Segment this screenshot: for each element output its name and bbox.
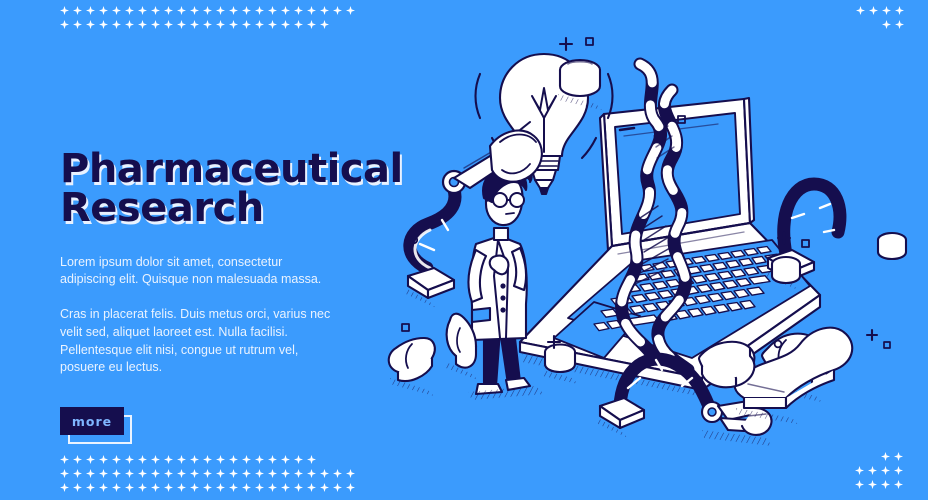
decorative-dot [881,480,890,489]
decorative-dot [281,469,290,478]
decorative-dot [320,6,329,15]
decorative-dot [190,455,199,464]
decorative-dot [268,469,277,478]
hero-banner: Pharmaceutical Research Lorem ipsum dolo… [0,0,928,500]
scientist-character [468,168,544,400]
decorative-dot [307,483,316,492]
decorative-dot [242,20,251,29]
hero-text-column: Pharmaceutical Research Lorem ipsum dolo… [60,150,390,455]
decorative-dot [164,20,173,29]
page-title: Pharmaceutical Research [60,150,390,228]
decorative-dot [86,20,95,29]
decorative-dot [112,6,121,15]
decorative-dot [138,483,147,492]
decorative-dot [99,6,108,15]
decorative-dot [255,469,264,478]
decorative-dot [60,20,69,29]
decorative-dot [216,20,225,29]
decorative-dot [190,469,199,478]
decorative-dot [73,469,82,478]
decorative-dot [99,483,108,492]
decorative-dot [216,6,225,15]
decorative-dot [125,483,134,492]
decorative-dot [164,455,173,464]
illustration-svg [372,18,928,480]
decorative-dot [895,6,904,15]
decorative-dot [294,483,303,492]
decorative-dot [229,455,238,464]
decorative-dot [164,6,173,15]
decorative-dot [177,6,186,15]
decorative-dot [73,20,82,29]
decorative-dot [138,20,147,29]
decorative-dot [229,20,238,29]
decorative-dot [320,20,329,29]
decorative-dot [255,455,264,464]
decorative-dot [190,483,199,492]
decorative-dot [86,469,95,478]
decorative-dot [346,483,355,492]
decorative-dot [281,483,290,492]
decorative-dot [73,455,82,464]
decorative-dot [333,469,342,478]
decorative-dot [73,483,82,492]
decorative-dot [281,20,290,29]
dot-pattern-bottom-left [60,455,359,497]
decorative-dot [86,6,95,15]
decorative-dot [242,455,251,464]
decorative-dot [151,483,160,492]
decorative-dot [255,6,264,15]
decorative-dot [112,483,121,492]
decorative-dot [138,455,147,464]
decorative-dot [346,6,355,15]
hero-paragraph-2: Cras in placerat felis. Duis metus orci,… [60,306,332,377]
decorative-dot [307,455,316,464]
decorative-dot [164,469,173,478]
decorative-dot [125,20,134,29]
decorative-dot [868,480,877,489]
decorative-dot [855,480,864,489]
decorative-dot [346,469,355,478]
decorative-dot [307,6,316,15]
decorative-dot [177,483,186,492]
decorative-dot [268,20,277,29]
decorative-dot [164,483,173,492]
decorative-dot [60,455,69,464]
decorative-dot [177,469,186,478]
decorative-dot [281,455,290,464]
decorative-dot [112,20,121,29]
decorative-dot [216,469,225,478]
decorative-dot [151,20,160,29]
decorative-dot [203,469,212,478]
decorative-dot [294,20,303,29]
decorative-dot [99,469,108,478]
more-button-group: more [60,407,180,455]
decorative-dot [242,483,251,492]
decorative-dot [307,20,316,29]
decorative-dot [216,483,225,492]
decorative-dot [294,6,303,15]
decorative-dot [229,6,238,15]
decorative-dot [151,469,160,478]
decorative-dot [281,6,290,15]
decorative-dot [255,483,264,492]
pharmaceutical-research-illustration [372,18,928,480]
decorative-dot [138,469,147,478]
decorative-dot [320,483,329,492]
decorative-dot [99,20,108,29]
decorative-dot [112,455,121,464]
decorative-dot [242,6,251,15]
decorative-dot [268,6,277,15]
decorative-dot [73,6,82,15]
decorative-dot [60,469,69,478]
decorative-dot [203,6,212,15]
page-title-line-2: Research [60,189,390,228]
decorative-dot [294,469,303,478]
decorative-dot [190,6,199,15]
decorative-dot [112,469,121,478]
decorative-dot [216,455,225,464]
more-button[interactable]: more [60,407,124,435]
decorative-dot [333,483,342,492]
decorative-dot [268,455,277,464]
decorative-dot [86,483,95,492]
decorative-dot [307,469,316,478]
decorative-dot [190,20,199,29]
decorative-dot [86,455,95,464]
decorative-dot [151,455,160,464]
decorative-dot [333,6,342,15]
hero-paragraph-1: Lorem ipsum dolor sit amet, consectetur … [60,254,332,290]
decorative-dot [125,455,134,464]
decorative-dot [151,6,160,15]
decorative-dot [882,6,891,15]
decorative-dot [229,483,238,492]
decorative-dot [320,469,329,478]
decorative-dot [856,6,865,15]
decorative-dot [125,6,134,15]
decorative-dot [229,469,238,478]
decorative-dot [203,20,212,29]
decorative-dot [60,6,69,15]
decorative-dot [125,469,134,478]
decorative-dot [869,6,878,15]
decorative-dot [203,483,212,492]
decorative-dot [268,483,277,492]
decorative-dot [60,483,69,492]
decorative-dot [203,455,212,464]
decorative-dot [294,455,303,464]
decorative-dot [255,20,264,29]
decorative-dot [894,480,903,489]
decorative-dot [177,455,186,464]
decorative-dot [99,455,108,464]
dot-pattern-top-left [60,6,359,34]
decorative-dot [177,20,186,29]
decorative-dot [138,6,147,15]
decorative-dot [242,469,251,478]
